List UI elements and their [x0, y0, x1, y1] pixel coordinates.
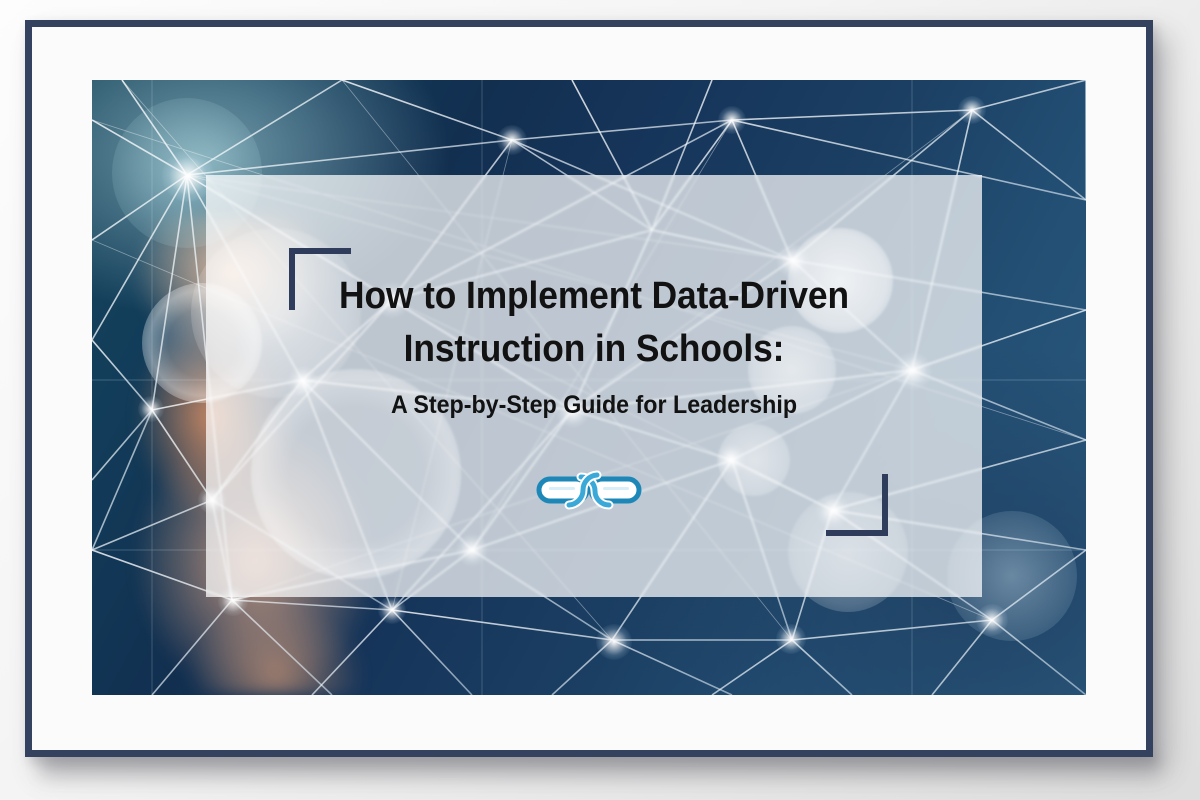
featured-artwork: How to Implement Data-Driven Instruction…: [92, 80, 1086, 695]
picture-frame: How to Implement Data-Driven Instruction…: [25, 20, 1153, 757]
headline-line-1: How to Implement Data-Driven: [233, 270, 955, 323]
headline-line-2: Instruction in Schools:: [233, 323, 955, 376]
frame-drop-shadow: [40, 757, 1160, 783]
page-title: How to Implement Data-Driven Instruction…: [233, 270, 955, 376]
page-subtitle: A Step-by-Step Guide for Leadership: [233, 390, 955, 421]
chain-link-icon: [535, 463, 643, 515]
artwork-text-block: How to Implement Data-Driven Instruction…: [206, 270, 982, 422]
page-background: How to Implement Data-Driven Instruction…: [0, 0, 1200, 800]
